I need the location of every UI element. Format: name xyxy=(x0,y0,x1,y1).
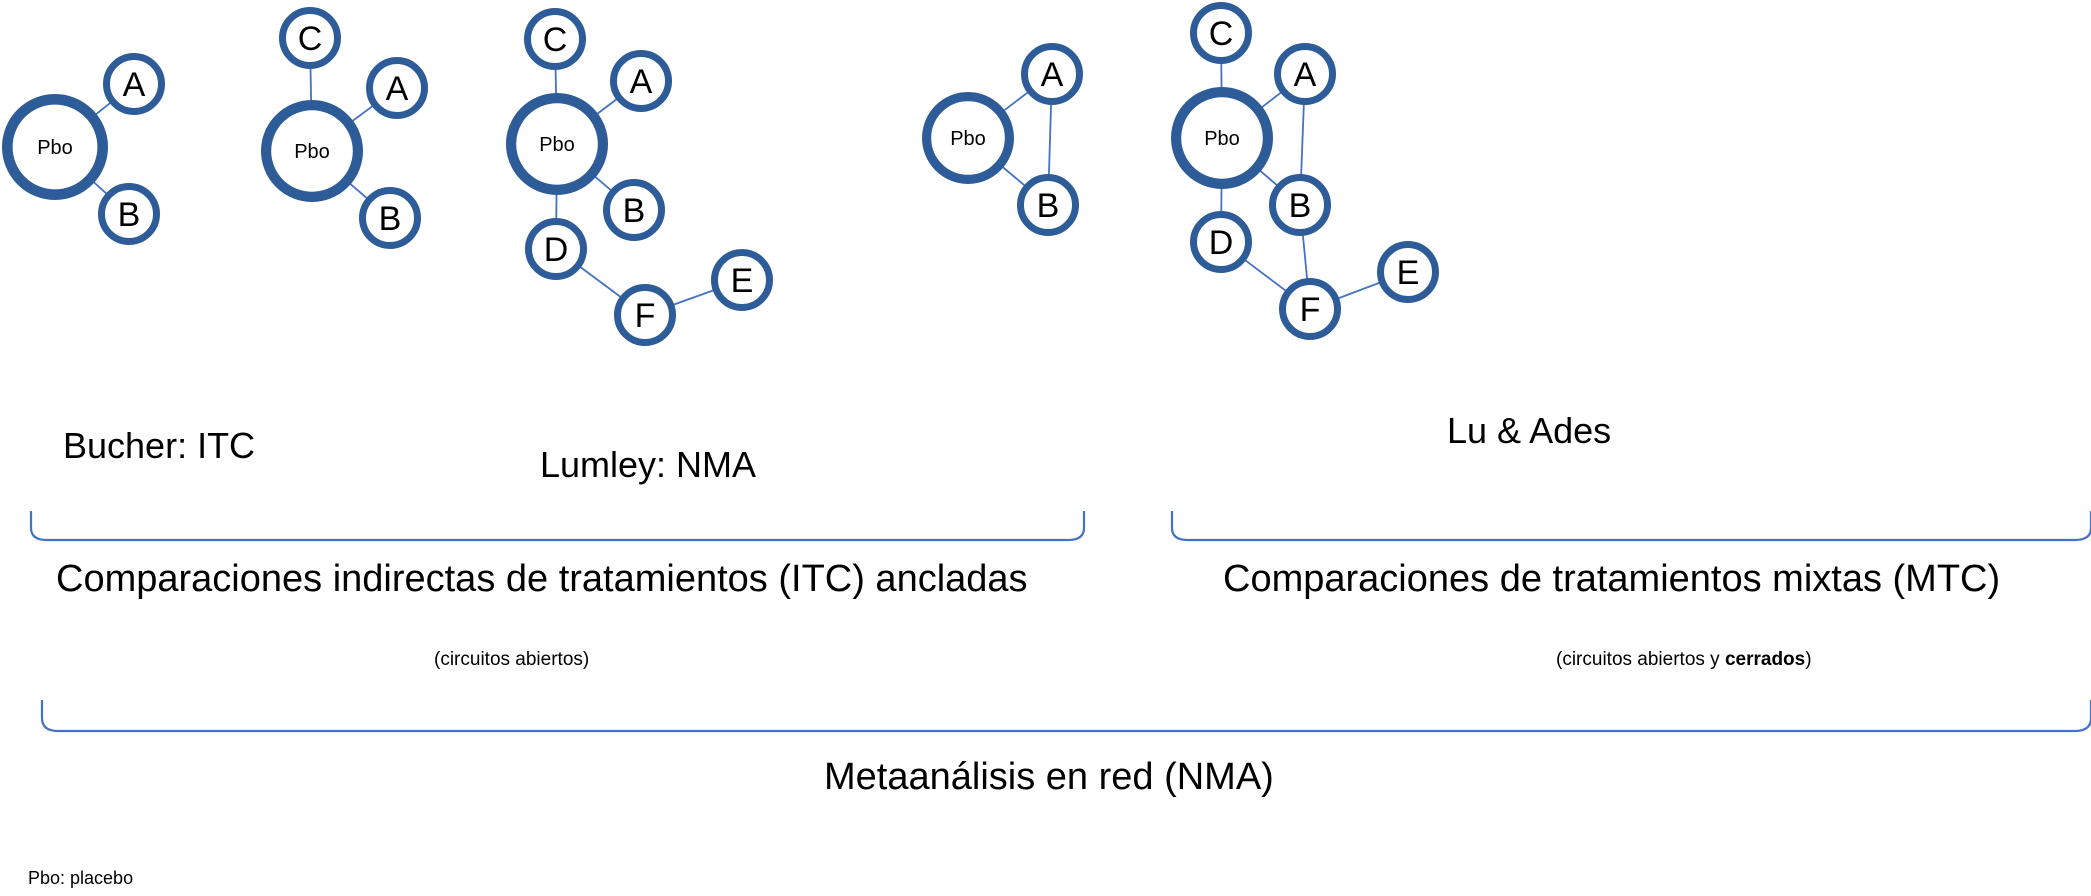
edge-lu-ades-1-Pbo-A xyxy=(1003,92,1029,112)
node-lumley-nma-B[interactable]: B xyxy=(607,183,662,238)
node-bucher-itc-2-B[interactable]: B xyxy=(363,191,418,246)
node-lu-ades-1-A[interactable]: A xyxy=(1025,47,1080,102)
caption-lu-ades: Lu & Ades xyxy=(1447,411,1611,451)
brace-right-mtc xyxy=(1172,511,2091,540)
node-label: E xyxy=(1397,254,1420,292)
node-label: B xyxy=(118,196,141,234)
edge-lumley-nma-Pbo-B xyxy=(594,176,612,191)
node-lumley-nma-Pbo[interactable]: Pbo xyxy=(511,98,603,190)
node-label: B xyxy=(1289,187,1312,225)
edge-lumley-nma-Pbo-C xyxy=(556,68,557,95)
nodes-layer: PboABPboCABPboCABDFEPboABPboCABDFE xyxy=(7,6,1435,343)
node-bucher-itc-Pbo[interactable]: Pbo xyxy=(7,99,102,194)
node-label: C xyxy=(298,20,323,58)
node-label: B xyxy=(379,200,402,238)
group-subtitle-mtc-prefix: (circuitos abiertos y xyxy=(1556,649,1725,670)
node-lumley-nma-D[interactable]: D xyxy=(529,222,584,277)
node-lumley-nma-C[interactable]: C xyxy=(528,12,583,67)
node-lumley-nma-E[interactable]: E xyxy=(715,253,770,308)
edge-lu-ades-2-Pbo-B xyxy=(1259,170,1278,186)
node-label: A xyxy=(123,66,146,104)
node-label: A xyxy=(630,63,653,101)
node-lu-ades-1-Pbo[interactable]: Pbo xyxy=(927,97,1010,180)
caption-lumley-nma: Lumley: NMA xyxy=(540,445,756,485)
group-subtitle-mtc-bold: cerrados xyxy=(1725,649,1805,670)
node-label: A xyxy=(386,70,409,108)
node-lumley-nma-A[interactable]: A xyxy=(614,54,669,109)
node-lumley-nma-F[interactable]: F xyxy=(618,288,673,343)
edge-lu-ades-2-A-B xyxy=(1301,103,1304,176)
edge-bucher-itc-Pbo-B xyxy=(93,181,108,194)
node-lu-ades-2-Pbo[interactable]: Pbo xyxy=(1176,92,1268,184)
node-label: C xyxy=(543,21,568,59)
edge-lumley-nma-D-F xyxy=(579,266,621,297)
node-label: Pbo xyxy=(539,134,575,156)
node-bucher-itc-A[interactable]: A xyxy=(107,57,162,112)
node-label: Pbo xyxy=(37,137,73,159)
node-label: Pbo xyxy=(294,141,330,163)
slide-canvas: PboABPboCABPboCABDFEPboABPboCABDFE Buche… xyxy=(0,0,2091,896)
group-subtitle-mtc-suffix: ) xyxy=(1805,649,1811,670)
node-label: B xyxy=(1037,187,1060,225)
node-label: E xyxy=(731,262,754,300)
node-lu-ades-2-E[interactable]: E xyxy=(1381,245,1436,300)
node-label: A xyxy=(1294,56,1317,94)
node-lu-ades-2-A[interactable]: A xyxy=(1278,47,1333,102)
node-bucher-itc-2-A[interactable]: A xyxy=(370,61,425,116)
edge-lumley-nma-Pbo-A xyxy=(596,98,618,114)
node-label: A xyxy=(1041,56,1064,94)
caption-bucher-itc: Bucher: ITC xyxy=(63,426,255,466)
edge-bucher-itc-2-Pbo-C xyxy=(311,67,312,102)
group-subtitle-mtc: (circuitos abiertos y cerrados) xyxy=(1556,650,1812,671)
braces-layer xyxy=(31,511,2091,731)
edge-lu-ades-2-Pbo-A xyxy=(1261,92,1282,108)
brace-bottom-nma xyxy=(42,700,2091,731)
node-label: Pbo xyxy=(1204,128,1240,150)
node-label: D xyxy=(544,231,569,269)
node-label: F xyxy=(635,297,656,335)
node-label: Pbo xyxy=(950,128,986,150)
edge-lu-ades-1-A-B xyxy=(1049,103,1051,176)
node-label: F xyxy=(1300,291,1321,329)
node-lu-ades-2-C[interactable]: C xyxy=(1194,6,1249,61)
edge-bucher-itc-2-Pbo-B xyxy=(349,183,368,199)
node-label: B xyxy=(623,192,646,230)
edge-lumley-nma-F-E xyxy=(672,290,714,305)
footnote-pbo: Pbo: placebo xyxy=(28,869,133,889)
node-bucher-itc-2-Pbo[interactable]: Pbo xyxy=(266,105,358,197)
edge-lu-ades-2-F-E xyxy=(1337,282,1381,299)
edge-bucher-itc-2-Pbo-A xyxy=(351,105,373,122)
node-lu-ades-2-F[interactable]: F xyxy=(1283,282,1338,337)
edge-lu-ades-1-Pbo-B xyxy=(1002,166,1026,186)
node-bucher-itc-B[interactable]: B xyxy=(102,187,157,242)
node-lu-ades-2-D[interactable]: D xyxy=(1194,215,1249,270)
group-title-nma: Metaanálisis en red (NMA) xyxy=(824,757,1274,799)
brace-left-itc xyxy=(31,511,1084,540)
group-title-mtc: Comparaciones de tratamientos mixtas (MT… xyxy=(1223,559,2000,601)
node-lu-ades-2-B[interactable]: B xyxy=(1273,178,1328,233)
group-subtitle-itc: (circuitos abiertos) xyxy=(434,650,589,671)
node-label: D xyxy=(1209,224,1234,262)
edge-lu-ades-2-B-F xyxy=(1303,234,1307,280)
node-lu-ades-1-B[interactable]: B xyxy=(1021,178,1076,233)
node-bucher-itc-2-C[interactable]: C xyxy=(283,11,338,66)
node-label: C xyxy=(1209,15,1234,53)
group-title-itc: Comparaciones indirectas de tratamientos… xyxy=(56,559,1028,601)
edge-lu-ades-2-D-F xyxy=(1244,259,1287,291)
edge-bucher-itc-Pbo-A xyxy=(95,102,111,115)
